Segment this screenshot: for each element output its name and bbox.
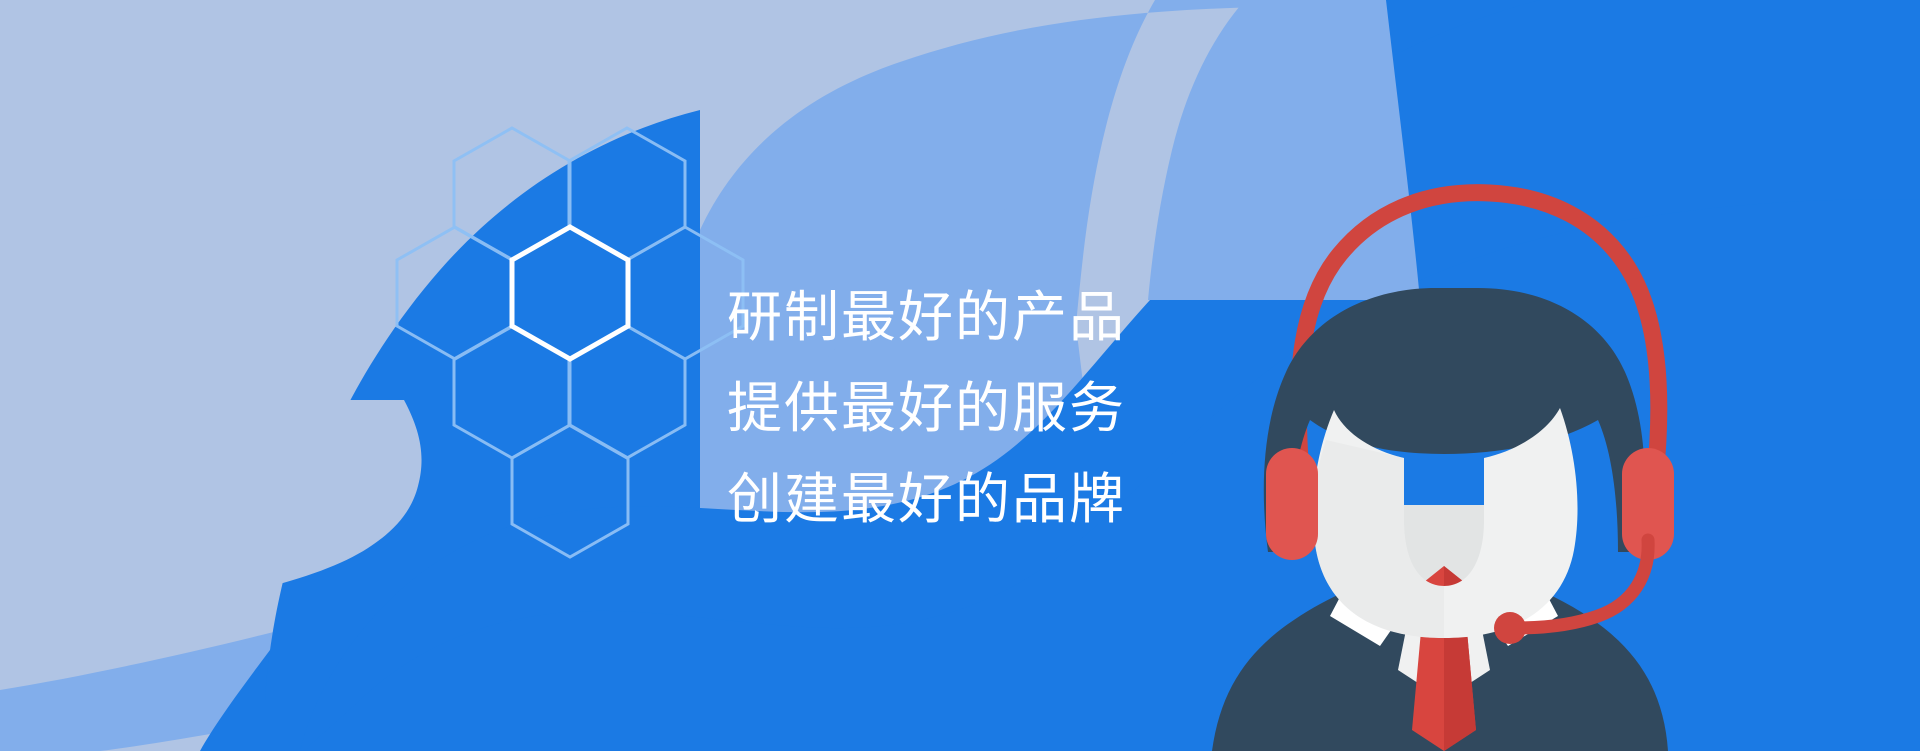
hero-banner: 研制最好的产品 提供最好的服务 创建最好的品牌 (0, 0, 1920, 751)
headline-line-2: 提供最好的服务 (727, 363, 1247, 454)
headline-block: 研制最好的产品 提供最好的服务 创建最好的品牌 (727, 272, 1247, 545)
left-earcup (1266, 448, 1318, 560)
headline-line-1: 研制最好的产品 (727, 272, 1247, 363)
microphone-tip (1494, 612, 1526, 644)
headline-line-3: 创建最好的品牌 (727, 454, 1247, 545)
